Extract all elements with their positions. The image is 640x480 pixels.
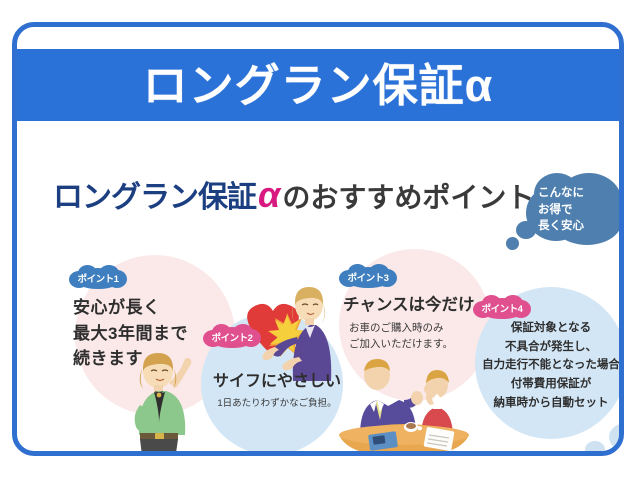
point-2-badge-label: ポイント2 (203, 324, 261, 350)
speech-bubble-line-3: 長く安心 (538, 218, 620, 235)
poster-title: ロングラン保証α (143, 63, 494, 108)
point-1-badge: ポイント1 (69, 265, 127, 291)
subtitle-alpha-symbol: α (256, 174, 282, 215)
point-3-badge: ポイント3 (339, 264, 397, 290)
point-4-badge: ポイント4 (473, 295, 531, 321)
title-banner: ロングラン保証α (17, 49, 619, 121)
point-3-badge-label: ポイント3 (339, 264, 397, 290)
point-2-heading: サイフにやさしい (203, 370, 351, 394)
speech-bubble-line-1: こんなに (538, 185, 620, 202)
point-4-text-block: 保証対象となる 不具合が発生し、 自力走行不能となった場合 付帯費用保証が 納車… (475, 319, 624, 412)
subtitle-brand: ロングラン保証 (53, 181, 256, 214)
subtitle-tail: のおすすめポイント (282, 182, 534, 213)
speech-bubble-text: こんなに お得で 長く安心 (538, 185, 620, 235)
point-2-text-block: サイフにやさしい 1日あたりわずかなご負担。 (203, 370, 351, 411)
bubble-tail-small (506, 237, 519, 250)
speech-bubble: こんなに お得で 長く安心 (522, 171, 624, 247)
point-2-badge: ポイント2 (203, 324, 261, 350)
point-1-heading: 安心が長く 最大3年間まで 続きます (73, 295, 223, 372)
point-3-subtext: お車のご購入時のみ ご加入いただけます。 (343, 321, 495, 353)
point-2-subtext: 1日あたりわずかなご負担。 (203, 397, 351, 411)
point-4-heading: 保証対象となる 不具合が発生し、 自力走行不能となった場合 付帯費用保証が 納車… (475, 319, 624, 412)
point-1-text-block: 安心が長く 最大3年間まで 続きます (73, 295, 223, 372)
point-1-badge-label: ポイント1 (69, 265, 127, 291)
poster-root: ロングラン保証α ロングラン保証αのおすすめポイント こんなに お得で 長く安心 (0, 0, 640, 480)
point-4-badge-label: ポイント4 (473, 295, 531, 321)
bubble-tail-large (516, 221, 536, 239)
poster-frame: ロングラン保証α ロングラン保証αのおすすめポイント こんなに お得で 長く安心 (12, 22, 624, 456)
decorative-lobe (609, 423, 624, 451)
decorative-lobe (585, 441, 605, 456)
speech-bubble-line-2: お得で (538, 202, 620, 219)
subtitle-line: ロングラン保証αのおすすめポイント (53, 177, 534, 213)
couple-at-table-illustration (333, 357, 475, 456)
